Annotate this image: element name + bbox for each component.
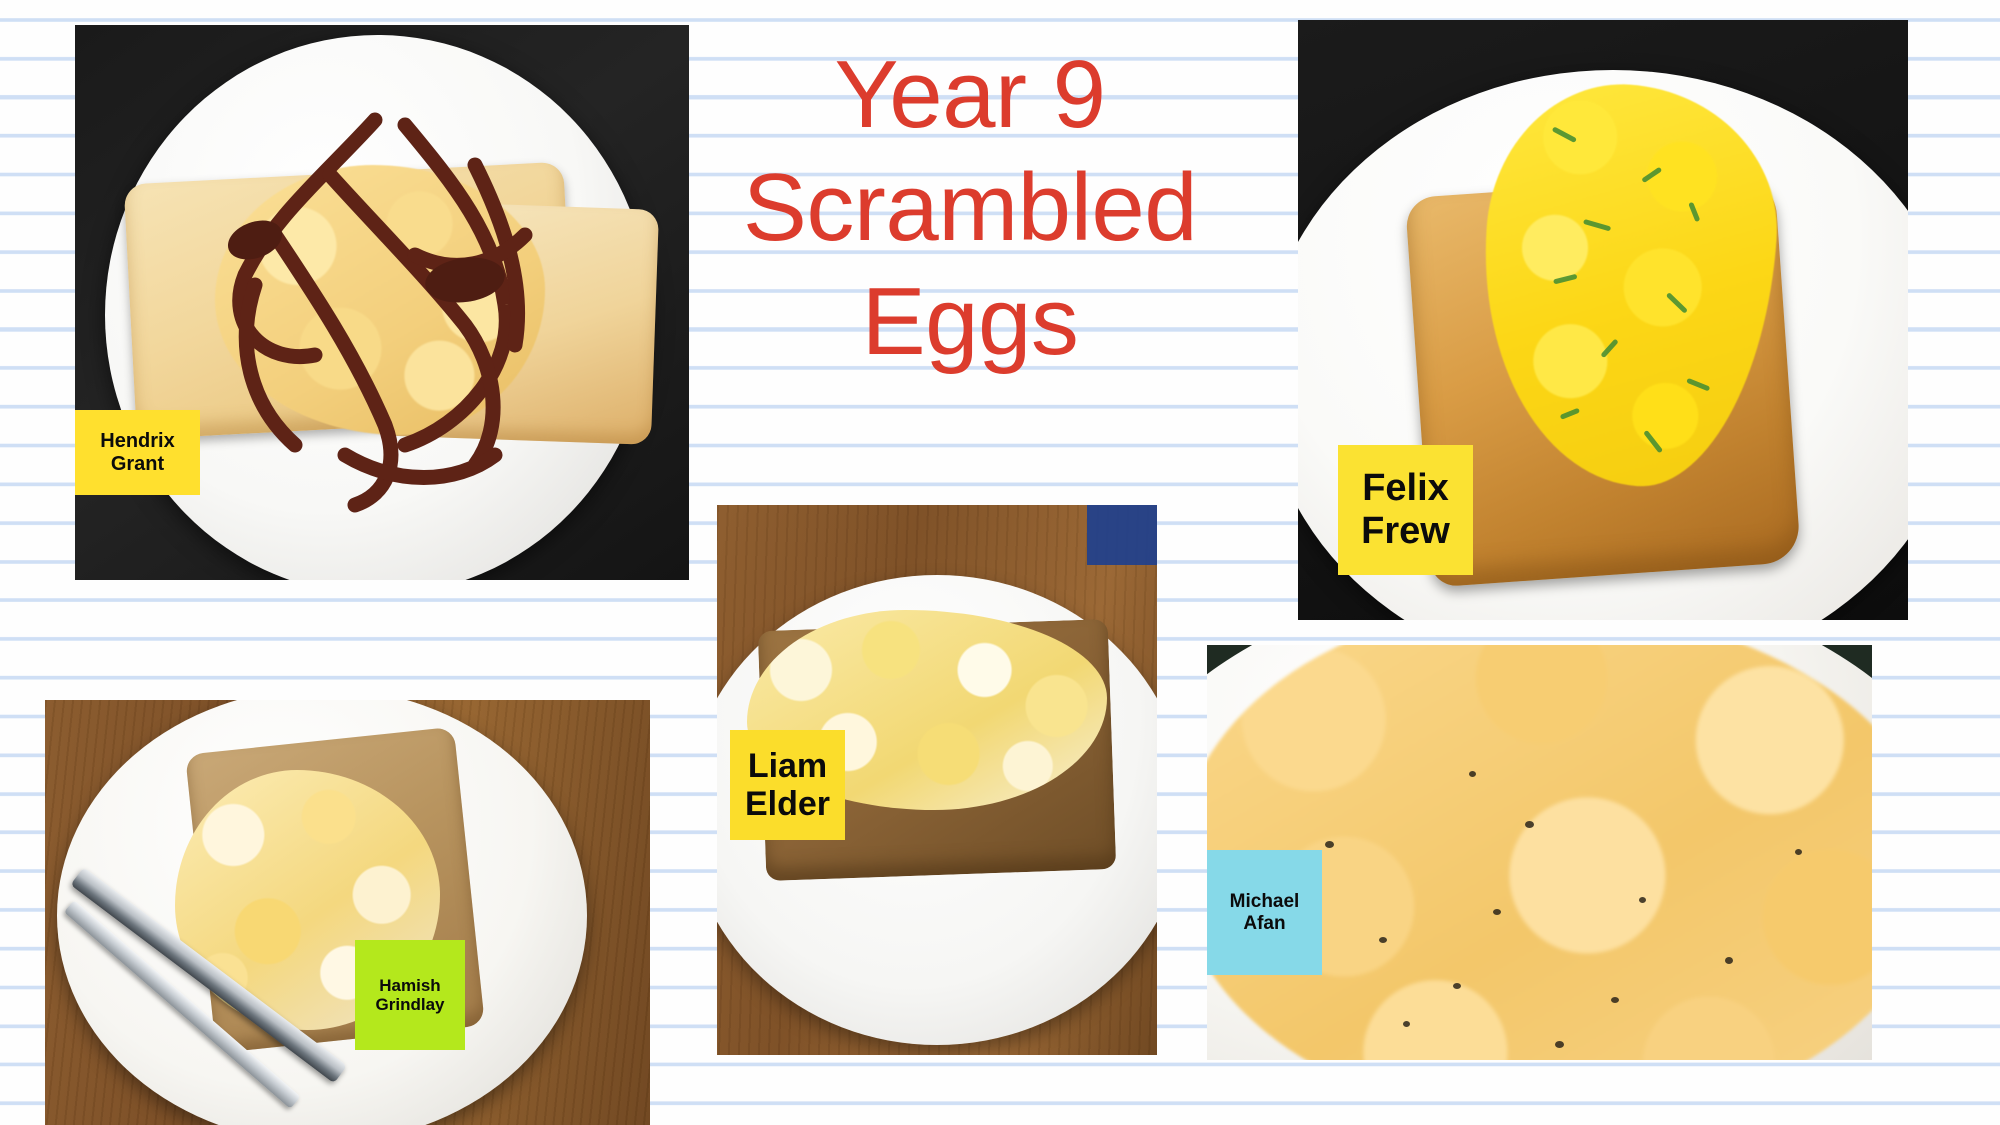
name-label-hendrix-grant: Hendrix Grant (75, 410, 200, 495)
photo-hendrix-grant[interactable]: Hendrix Grant (75, 25, 689, 580)
blue-object-corner (1087, 505, 1157, 565)
photo-hendrix-grant-scene (75, 25, 689, 580)
name-label-text: Liam Elder (745, 747, 830, 823)
name-label-text: Hendrix Grant (100, 430, 174, 475)
name-label-liam-elder: Liam Elder (730, 730, 845, 840)
photo-felix-frew[interactable]: Felix Frew (1298, 20, 1908, 620)
slide-canvas: Hendrix Grant Hamish Grindlay Liam El (0, 0, 2000, 1125)
name-label-felix-frew: Felix Frew (1338, 445, 1473, 575)
photo-liam-elder[interactable]: Liam Elder (717, 505, 1157, 1055)
name-label-text: Hamish Grindlay (376, 976, 445, 1014)
bbq-sauce-drizzle (75, 25, 689, 580)
name-label-michael-afan: Michael Afan (1207, 850, 1322, 975)
photo-hamish-grindlay[interactable]: Hamish Grindlay (45, 700, 650, 1125)
page-title: Year 9 Scrambled Eggs (690, 38, 1250, 378)
photo-hamish-grindlay-scene (45, 700, 650, 1125)
name-label-text: Felix Frew (1361, 467, 1450, 552)
chive-garnish (1469, 75, 1786, 494)
name-label-hamish-grindlay: Hamish Grindlay (355, 940, 465, 1050)
name-label-text: Michael Afan (1230, 891, 1300, 934)
photo-michael-afan[interactable]: Michael Afan (1207, 645, 1872, 1060)
